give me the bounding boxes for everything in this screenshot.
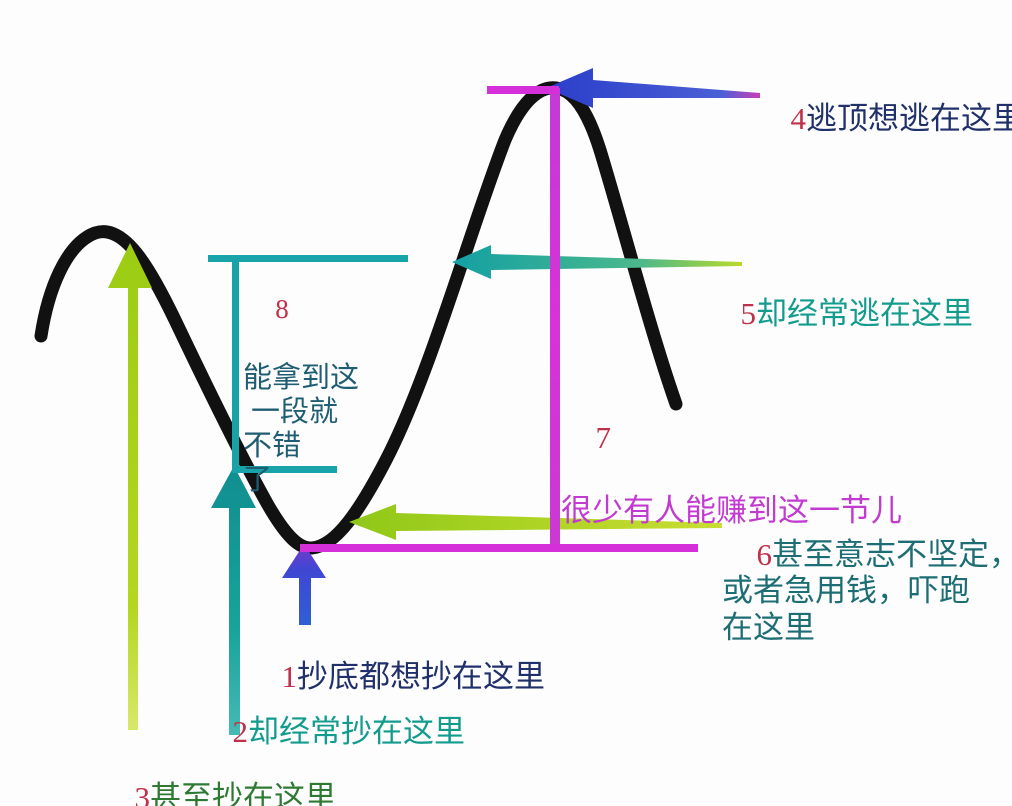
annotation-8-number: 8 — [275, 294, 289, 324]
annotation-3: 3甚至抄在这里 — [100, 743, 336, 806]
annotation-5-number: 5 — [740, 296, 756, 331]
annotation-6-number: 6 — [756, 537, 772, 572]
green-up-arrow — [108, 243, 152, 730]
annotation-4-number: 4 — [790, 101, 806, 136]
annotation-5-label: 却经常逃在这里 — [756, 296, 973, 331]
annotation-4: 4逃顶想逃在这里 — [756, 64, 1012, 174]
annotation-4-label: 逃顶想逃在这里 — [806, 101, 1012, 136]
annotation-8: 8 能拿到这 一段就 不错 了 — [243, 258, 359, 566]
annotation-5: 5却经常逃在这里 — [706, 259, 973, 369]
teal-left-arrow — [452, 245, 742, 279]
annotation-6: 6甚至意志不坚定， 或者急用钱，吓跑 在这里 — [722, 500, 1012, 683]
diagram-canvas: 4逃顶想逃在这里 5却经常逃在这里 8 能拿到这 一段就 不错 了 7 很少有人… — [0, 0, 1012, 806]
annotation-7-number: 7 — [595, 420, 611, 455]
annotation-8-label: 能拿到这 一段就 不错 了 — [243, 361, 359, 498]
annotation-3-label: 甚至抄在这里 — [150, 780, 336, 806]
annotation-3-number: 3 — [134, 780, 150, 806]
